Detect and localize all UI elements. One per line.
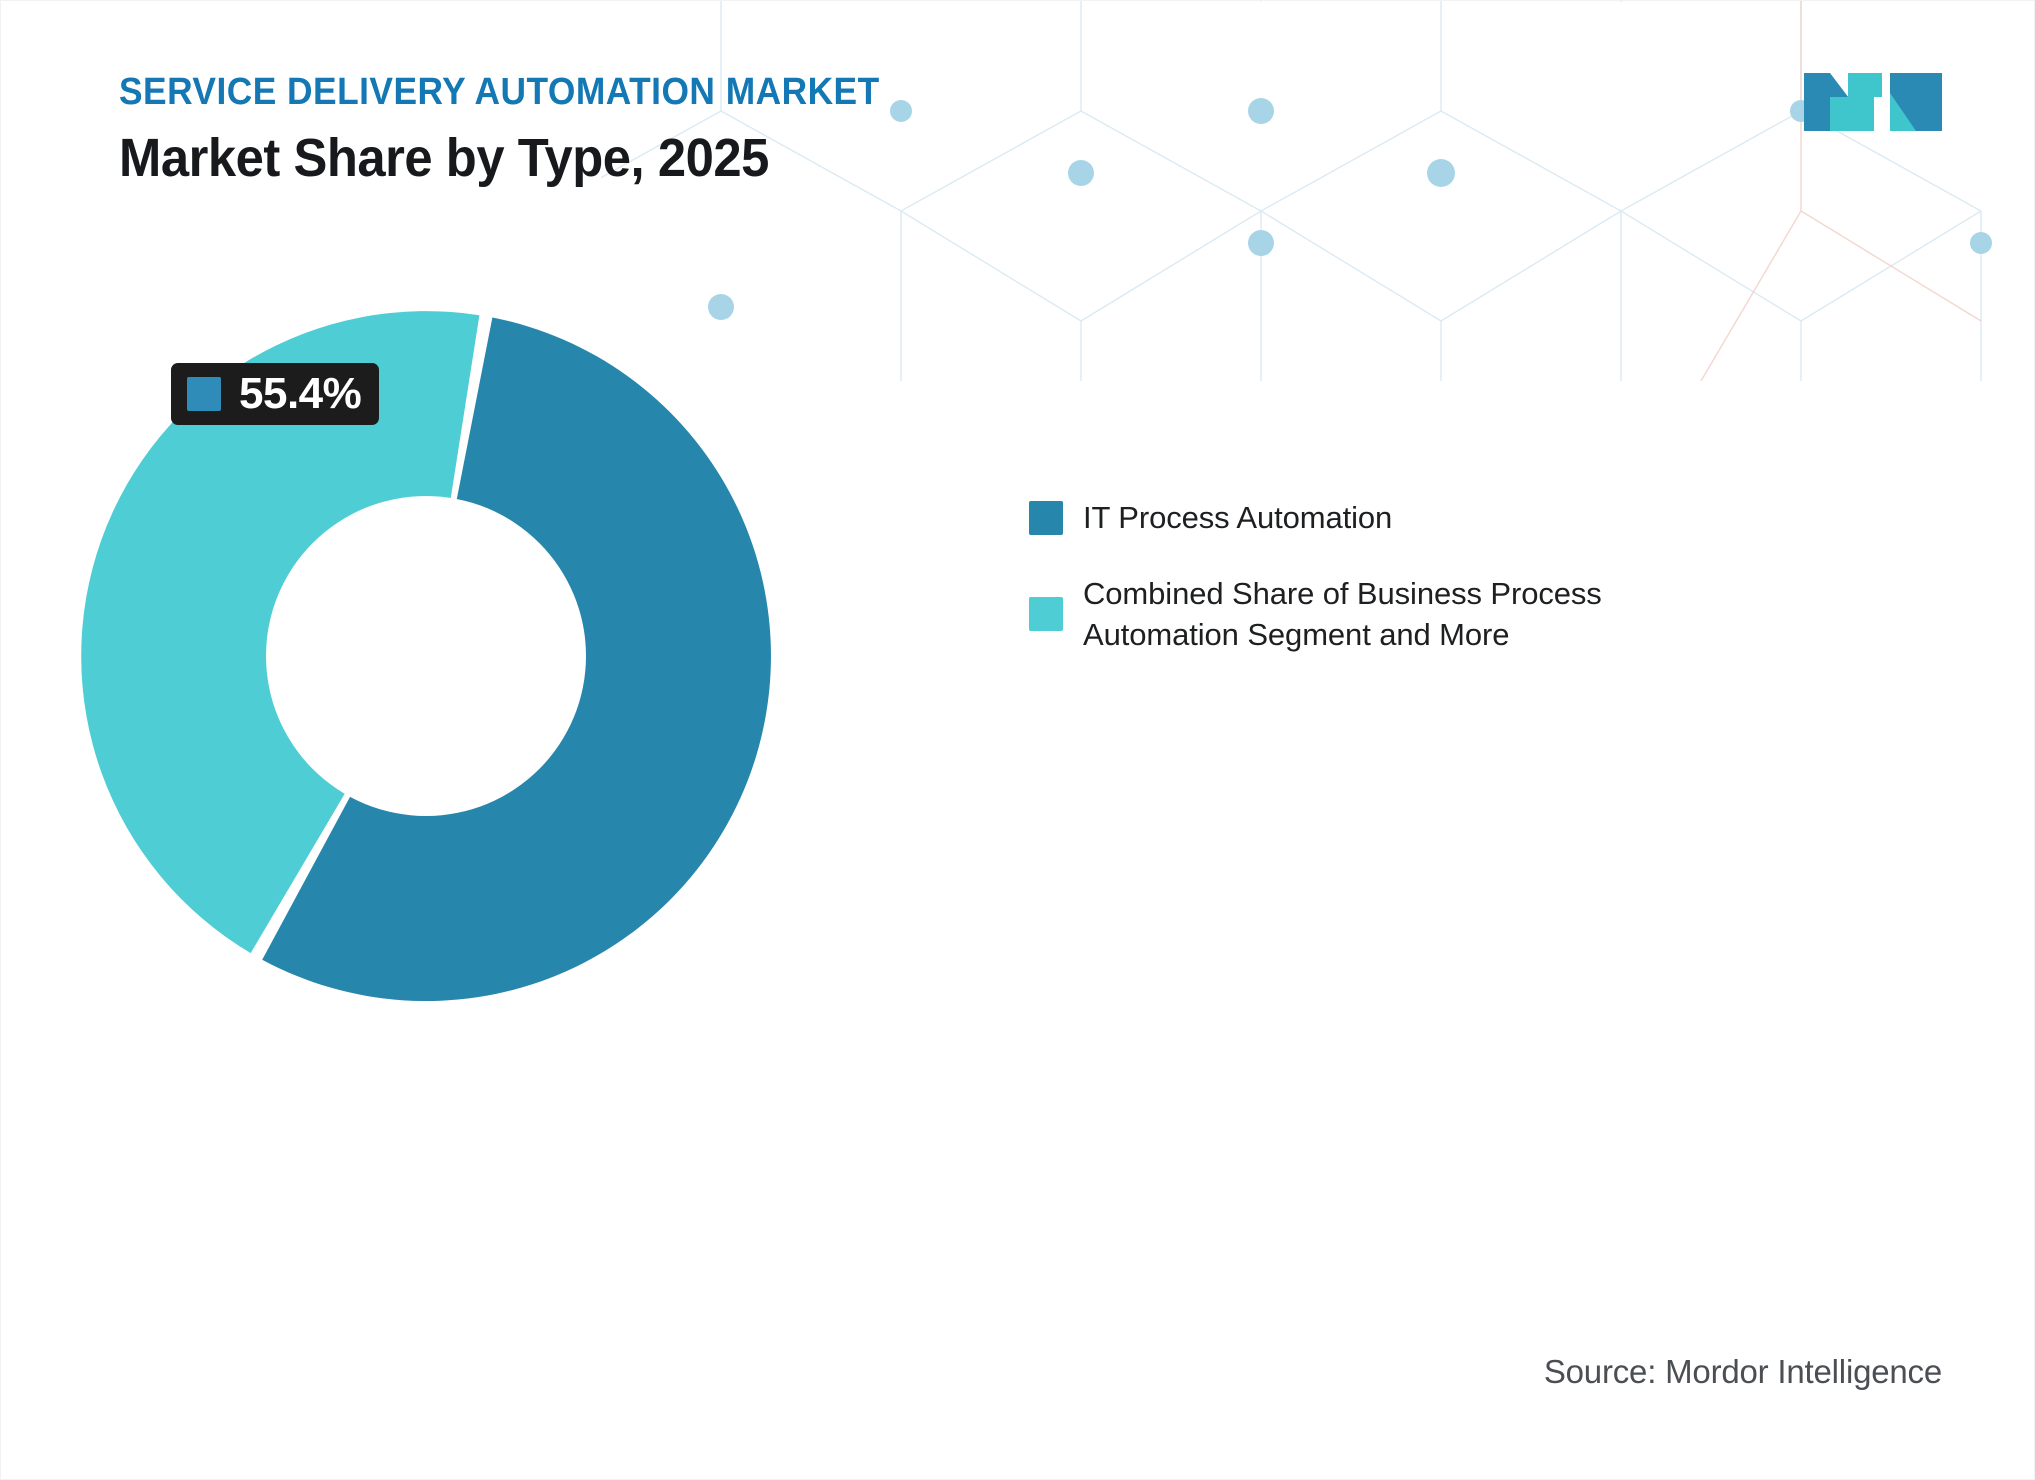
chart-header: SERVICE DELIVERY AUTOMATION MARKET Marke… (119, 73, 1319, 187)
chart-legend: IT Process Automation Combined Share of … (1029, 497, 1789, 690)
badge-color-swatch (187, 377, 221, 411)
market-name-eyebrow: SERVICE DELIVERY AUTOMATION MARKET (119, 73, 1235, 113)
legend-item-combined-share[interactable]: Combined Share of Business Process Autom… (1029, 573, 1789, 656)
legend-swatch-combined-share (1029, 597, 1063, 631)
legend-label-combined-share: Combined Share of Business Process Autom… (1083, 573, 1723, 656)
badge-percent-value: 55.4% (239, 372, 361, 416)
legend-item-it-process-automation[interactable]: IT Process Automation (1029, 497, 1789, 539)
hex-network-background (601, 0, 2035, 381)
data-label-badge: 55.4% (171, 363, 379, 425)
page-title: Market Share by Type, 2025 (119, 129, 1247, 187)
legend-label-it-process-automation: IT Process Automation (1083, 497, 1392, 539)
donut-center-hole (266, 496, 586, 816)
chart-canvas: SERVICE DELIVERY AUTOMATION MARKET Marke… (0, 0, 2035, 1480)
mordor-intelligence-logo-icon (1804, 67, 1942, 137)
source-attribution: Source: Mordor Intelligence (1544, 1353, 1942, 1391)
legend-swatch-it-process-automation (1029, 501, 1063, 535)
